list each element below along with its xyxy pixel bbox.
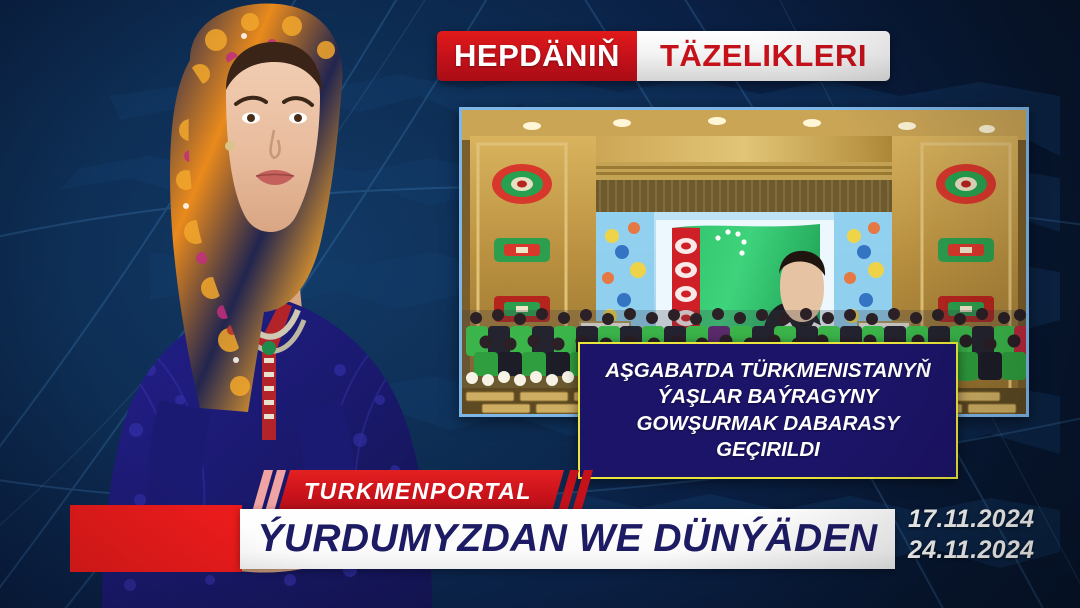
date-to: 24.11.2024 bbox=[908, 536, 1058, 565]
banner-text-right: TÄZELIKLERI bbox=[654, 38, 873, 74]
red-accent-block bbox=[70, 505, 242, 572]
brand-tag-body: TURKMENPORTAL bbox=[278, 470, 564, 512]
headline-line-3: GOWŞURMAK DABARASY bbox=[636, 411, 899, 437]
headline-line-2: ÝAŞLAR BAÝRAGYNY bbox=[658, 384, 879, 410]
headline-line-4: GEÇIRILDI bbox=[716, 437, 820, 463]
headline-box: AŞGABATDA TÜRKMENISTANYŇ ÝAŞLAR BAÝRAGYN… bbox=[578, 342, 958, 479]
date-from: 17.11.2024 bbox=[908, 505, 1058, 534]
news-banner: HEPDÄNIŇ TÄZELIKLERI bbox=[437, 31, 890, 81]
banner-text-left: HEPDÄNIŇ bbox=[454, 38, 620, 74]
program-title: ÝURDUMYZDAN WE DÜNÝÄDEN bbox=[257, 517, 877, 561]
brand-tag-label: TURKMENPORTAL bbox=[304, 478, 532, 505]
banner-right-half: TÄZELIKLERI bbox=[637, 31, 890, 81]
date-range: 17.11.2024 24.11.2024 bbox=[908, 505, 1058, 565]
program-title-bar: ÝURDUMYZDAN WE DÜNÝÄDEN bbox=[240, 509, 895, 569]
brand-tag-tail bbox=[564, 470, 592, 512]
headline-line-1: AŞGABATDA TÜRKMENISTANYŇ bbox=[605, 358, 930, 384]
brand-tag: TURKMENPORTAL bbox=[258, 470, 592, 512]
news-thumbnail: HEPDÄNIŇ TÄZELIKLERI bbox=[0, 0, 1080, 608]
banner-left-half: HEPDÄNIŇ bbox=[437, 31, 637, 81]
